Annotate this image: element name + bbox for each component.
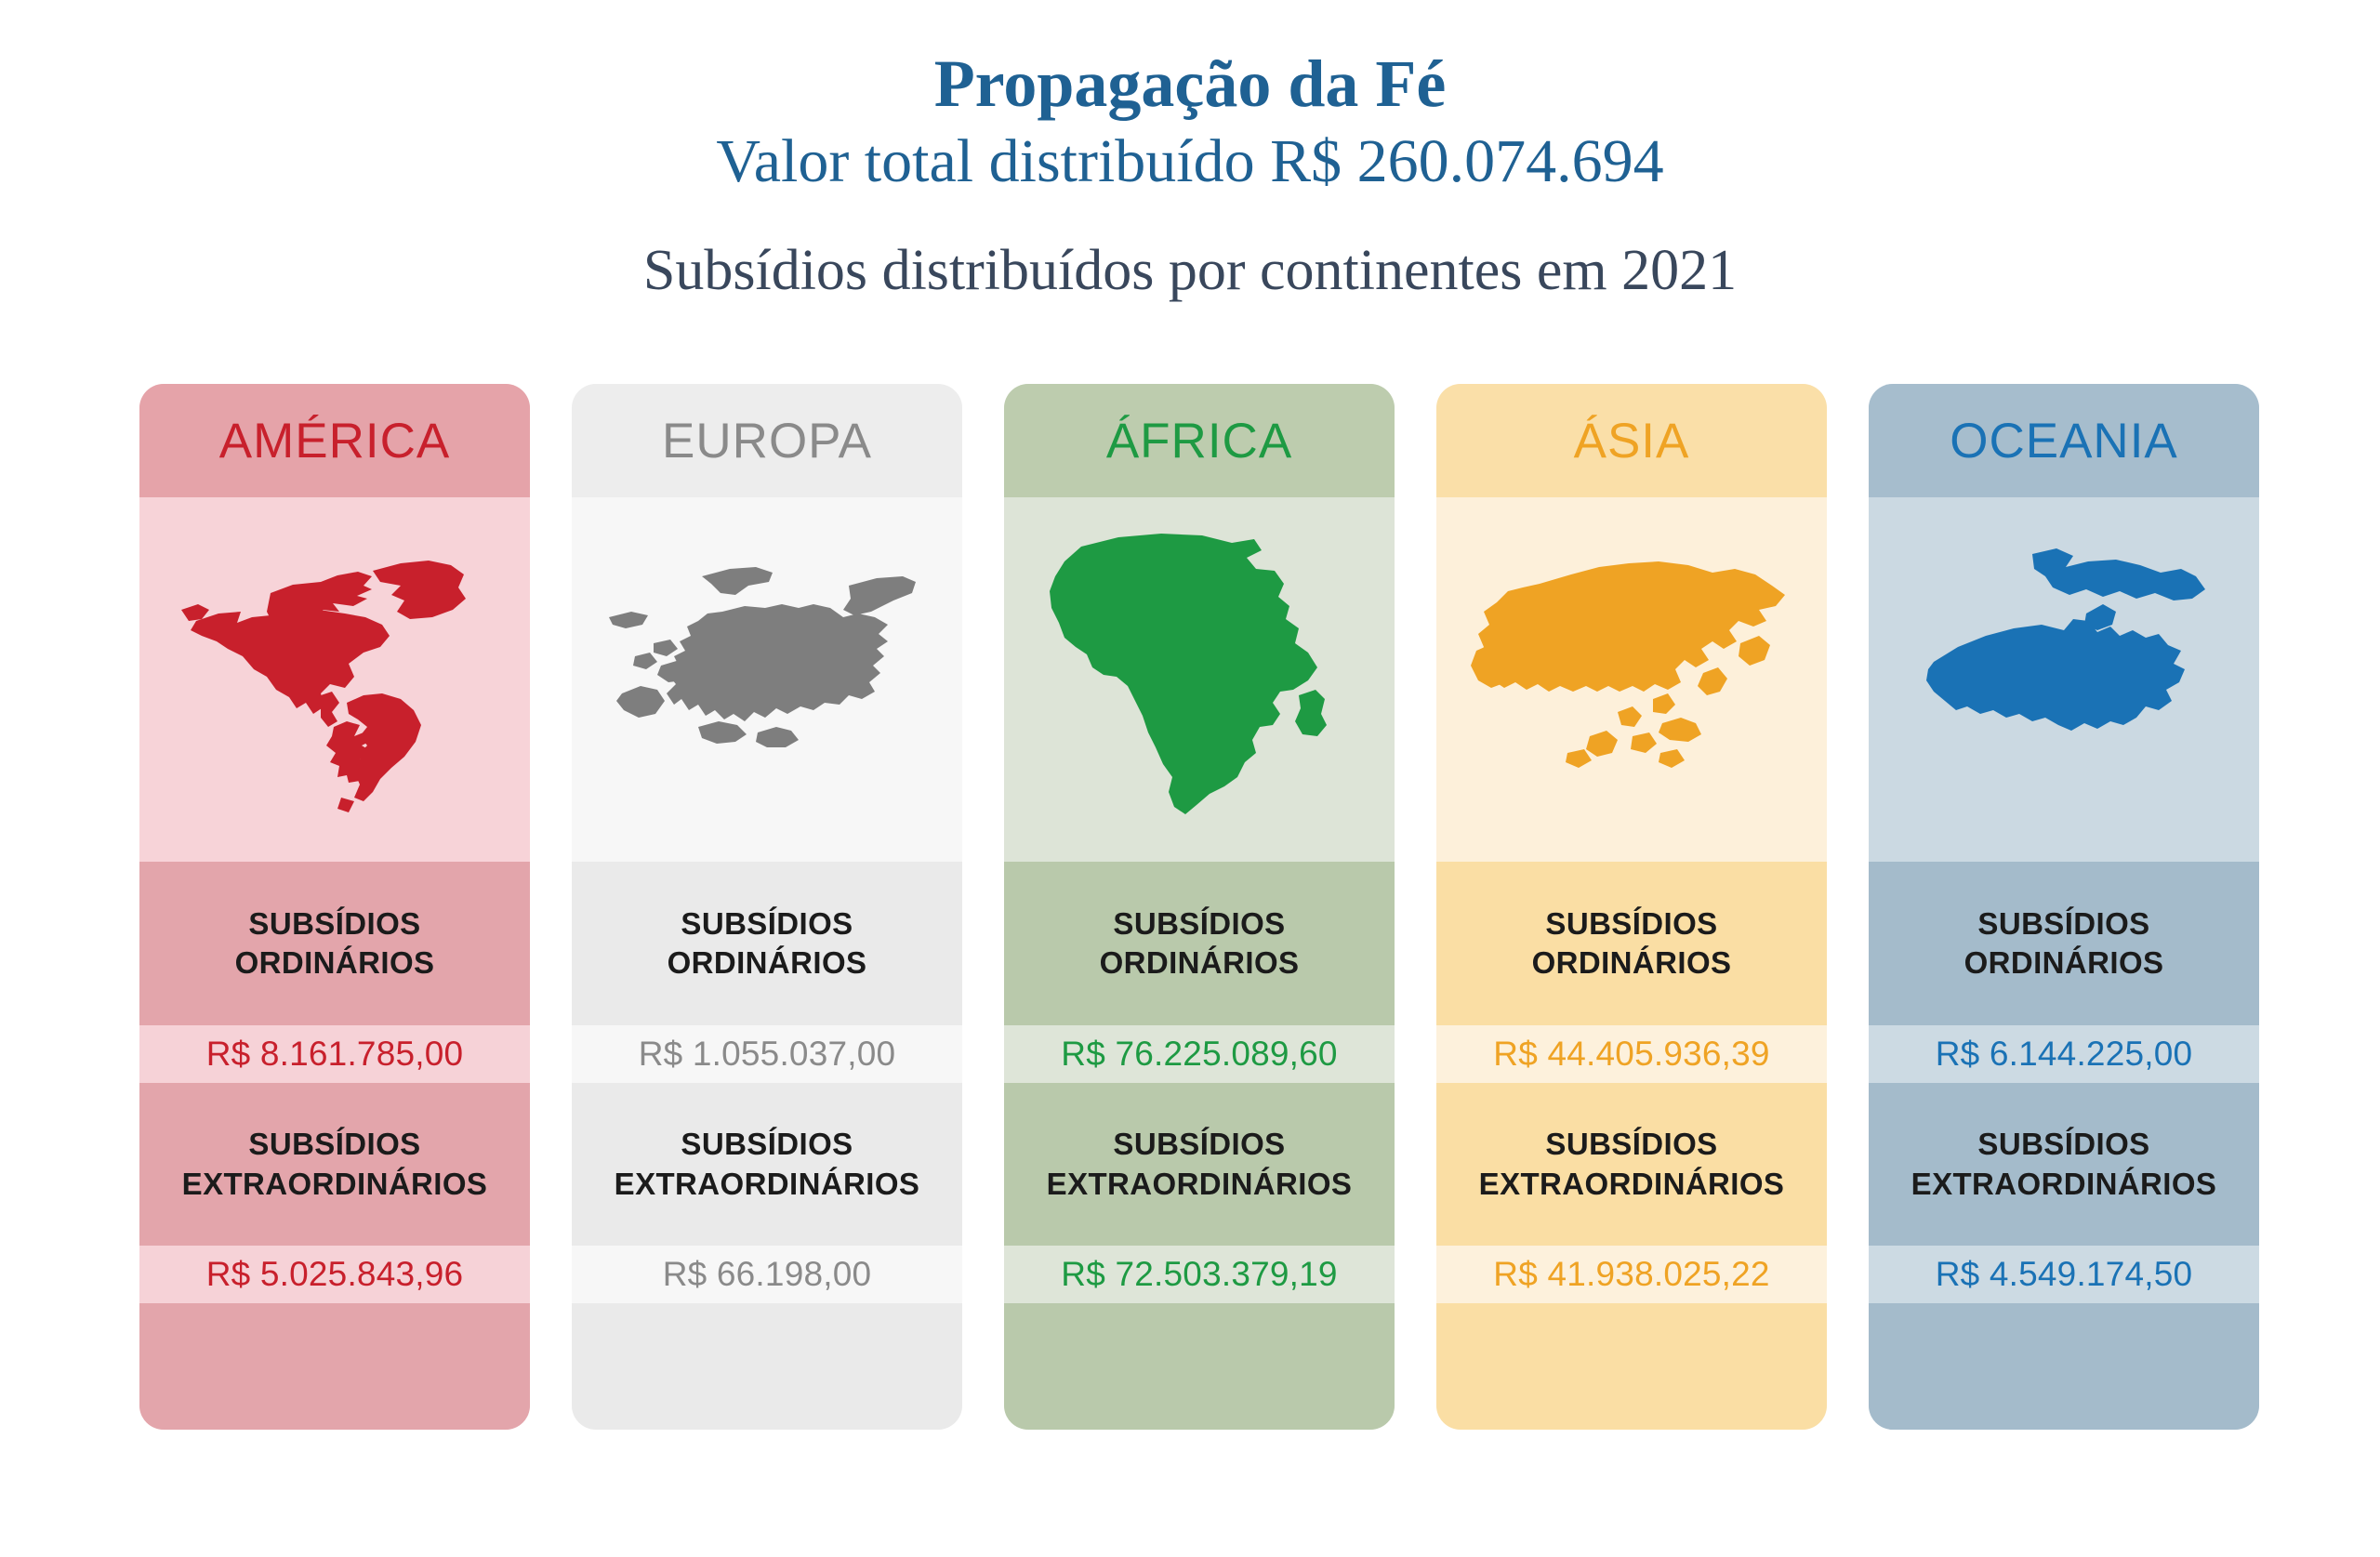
map-panel-asia	[1436, 497, 1827, 862]
ordinary-value-america: R$ 8.161.785,00	[206, 1035, 464, 1074]
card-footer-europa	[572, 1303, 962, 1430]
extraordinary-label-oceania: SUBSÍDIOS EXTRAORDINÁRIOS	[1869, 1083, 2259, 1246]
extraordinary-label-line1: SUBSÍDIOS	[1977, 1127, 2149, 1161]
ordinary-label-oceania: SUBSÍDIOS ORDINÁRIOS	[1869, 862, 2259, 1025]
ordinary-label-asia: SUBSÍDIOS ORDINÁRIOS	[1436, 862, 1827, 1025]
america-map-icon	[181, 545, 488, 814]
continent-name-asia: ÁSIA	[1574, 413, 1690, 469]
ordinary-value-oceania: R$ 6.144.225,00	[1936, 1035, 2193, 1074]
ordinary-label-line2: ORDINÁRIOS	[1532, 945, 1732, 980]
extraordinary-value-asia: R$ 41.938.025,22	[1493, 1255, 1769, 1294]
card-header-america: AMÉRICA	[139, 384, 530, 497]
extraordinary-value-america: R$ 5.025.843,96	[206, 1255, 464, 1294]
ordinary-value-band-africa: R$ 76.225.089,60	[1004, 1025, 1395, 1083]
extraordinary-label-asia: SUBSÍDIOS EXTRAORDINÁRIOS	[1436, 1083, 1827, 1246]
ordinary-label-line1: SUBSÍDIOS	[1977, 906, 2149, 941]
section-title: Subsídios distribuídos por continentes e…	[0, 239, 2380, 302]
extraordinary-value-band-oceania: R$ 4.549.174,50	[1869, 1246, 2259, 1303]
extraordinary-label-africa: SUBSÍDIOS EXTRAORDINÁRIOS	[1004, 1083, 1395, 1246]
ordinary-value-europa: R$ 1.055.037,00	[639, 1035, 896, 1074]
card-header-asia: ÁSIA	[1436, 384, 1827, 497]
ordinary-label-line1: SUBSÍDIOS	[1113, 906, 1285, 941]
extraordinary-value-band-europa: R$ 66.198,00	[572, 1246, 962, 1303]
extraordinary-label-line2: EXTRAORDINÁRIOS	[1479, 1167, 1785, 1201]
extraordinary-label-europa: SUBSÍDIOS EXTRAORDINÁRIOS	[572, 1083, 962, 1246]
ordinary-label-line2: ORDINÁRIOS	[1964, 945, 2164, 980]
extraordinary-label-line1: SUBSÍDIOS	[248, 1127, 420, 1161]
continent-card-oceania[interactable]: OCEANIA SUBSÍDIOS ORDINÁRIOS R$ 6	[1869, 384, 2259, 1430]
extraordinary-value-band-america: R$ 5.025.843,96	[139, 1246, 530, 1303]
ordinary-label-line1: SUBSÍDIOS	[681, 906, 853, 941]
continent-name-europa: EUROPA	[662, 413, 872, 469]
europe-map-icon	[609, 563, 925, 796]
extraordinary-value-band-asia: R$ 41.938.025,22	[1436, 1246, 1827, 1303]
page-headings: Propagação da Fé Valor total distribuído…	[0, 0, 2380, 302]
page-title: Propagação da Fé	[0, 48, 2380, 121]
continent-columns: AMÉRICA S	[139, 384, 2264, 1430]
card-footer-asia	[1436, 1303, 1827, 1430]
ordinary-value-band-oceania: R$ 6.144.225,00	[1869, 1025, 2259, 1083]
card-footer-oceania	[1869, 1303, 2259, 1430]
card-header-oceania: OCEANIA	[1869, 384, 2259, 497]
card-header-africa: ÁFRICA	[1004, 384, 1395, 497]
extraordinary-label-line1: SUBSÍDIOS	[1113, 1127, 1285, 1161]
oceania-map-icon	[1906, 545, 2222, 814]
continent-card-africa[interactable]: ÁFRICA SUBSÍDIOS ORDINÁRIOS R$ 76.225.08…	[1004, 384, 1395, 1430]
extraordinary-value-oceania: R$ 4.549.174,50	[1936, 1255, 2193, 1294]
map-panel-america	[139, 497, 530, 862]
extraordinary-value-europa: R$ 66.198,00	[663, 1255, 872, 1294]
page-subtitle: Valor total distribuído R$ 260.074.694	[0, 125, 2380, 198]
ordinary-label-line2: ORDINÁRIOS	[668, 945, 867, 980]
ordinary-label-line1: SUBSÍDIOS	[248, 906, 420, 941]
ordinary-value-band-europa: R$ 1.055.037,00	[572, 1025, 962, 1083]
card-footer-africa	[1004, 1303, 1395, 1430]
extraordinary-label-line2: EXTRAORDINÁRIOS	[1047, 1167, 1353, 1201]
continent-card-europa[interactable]: EUROPA	[572, 384, 962, 1430]
extraordinary-label-line1: SUBSÍDIOS	[1545, 1127, 1717, 1161]
ordinary-label-line2: ORDINÁRIOS	[1100, 945, 1300, 980]
asia-map-icon	[1469, 554, 1794, 805]
ordinary-label-africa: SUBSÍDIOS ORDINÁRIOS	[1004, 862, 1395, 1025]
map-panel-europa	[572, 497, 962, 862]
ordinary-value-band-asia: R$ 44.405.936,39	[1436, 1025, 1827, 1083]
map-panel-africa	[1004, 497, 1395, 862]
map-panel-oceania	[1869, 497, 2259, 862]
infographic-page: Propagação da Fé Valor total distribuído…	[0, 0, 2380, 1557]
extraordinary-value-band-africa: R$ 72.503.379,19	[1004, 1246, 1395, 1303]
continent-name-america: AMÉRICA	[219, 413, 450, 469]
ordinary-value-band-america: R$ 8.161.785,00	[139, 1025, 530, 1083]
ordinary-label-europa: SUBSÍDIOS ORDINÁRIOS	[572, 862, 962, 1025]
ordinary-value-africa: R$ 76.225.089,60	[1061, 1035, 1337, 1074]
africa-map-icon	[1046, 526, 1353, 833]
extraordinary-label-line1: SUBSÍDIOS	[681, 1127, 853, 1161]
continent-name-africa: ÁFRICA	[1106, 413, 1292, 469]
extraordinary-label-america: SUBSÍDIOS EXTRAORDINÁRIOS	[139, 1083, 530, 1246]
ordinary-label-line1: SUBSÍDIOS	[1545, 906, 1717, 941]
card-header-europa: EUROPA	[572, 384, 962, 497]
extraordinary-label-line2: EXTRAORDINÁRIOS	[182, 1167, 488, 1201]
extraordinary-label-line2: EXTRAORDINÁRIOS	[1911, 1167, 2217, 1201]
continent-name-oceania: OCEANIA	[1950, 413, 2178, 469]
card-footer-america	[139, 1303, 530, 1430]
continent-card-america[interactable]: AMÉRICA S	[139, 384, 530, 1430]
extraordinary-label-line2: EXTRAORDINÁRIOS	[615, 1167, 920, 1201]
ordinary-value-asia: R$ 44.405.936,39	[1493, 1035, 1769, 1074]
ordinary-label-america: SUBSÍDIOS ORDINÁRIOS	[139, 862, 530, 1025]
extraordinary-value-africa: R$ 72.503.379,19	[1061, 1255, 1337, 1294]
continent-card-asia[interactable]: ÁSIA	[1436, 384, 1827, 1430]
ordinary-label-line2: ORDINÁRIOS	[235, 945, 435, 980]
